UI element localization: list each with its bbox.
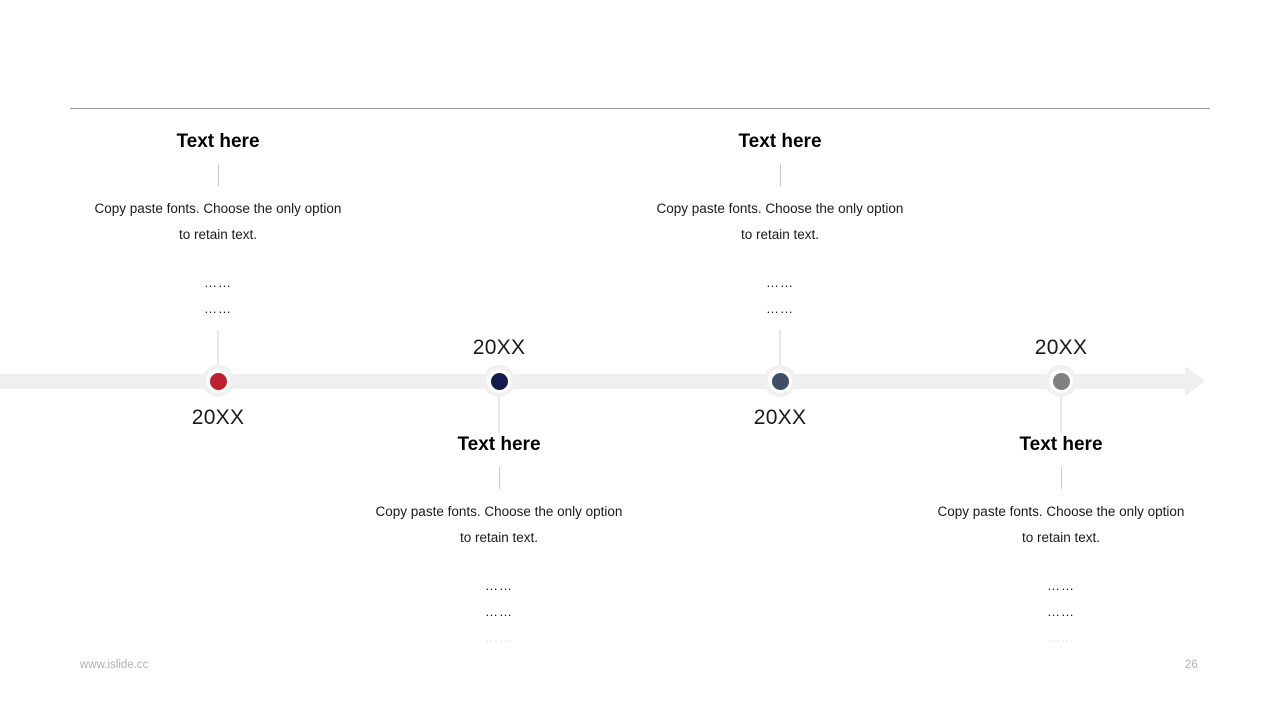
milestone-1-body-line-2: to retain text. (53, 222, 383, 248)
milestone-4-marker-ring (1049, 369, 1073, 393)
milestone-2-ellipsis-line-1: …… (485, 573, 513, 599)
milestone-2-marker[interactable] (483, 365, 515, 397)
milestone-4-ellipsis-line-2: …… (1047, 599, 1075, 625)
milestone-4-title: Text here (896, 434, 1226, 457)
milestone-4-ellipsis-line-1: …… (1047, 573, 1075, 599)
milestone-2-ellipsis-line-2: …… (485, 599, 513, 625)
milestone-3-marker-ring (768, 369, 792, 393)
milestone-4-marker-dot (1053, 373, 1070, 390)
milestone-1-marker-ring (206, 369, 230, 393)
milestone-3-year: 20XX (754, 407, 807, 428)
footer-page-number: 26 (1185, 659, 1198, 671)
milestone-2-text-block: Text here Copy paste fonts. Choose the o… (334, 434, 664, 551)
timeline-arrow-icon (1185, 366, 1205, 396)
milestone-1-ellipsis-group: …… …… (204, 270, 232, 322)
milestone-2-title-separator (499, 467, 500, 489)
milestone-3-ellipsis-group: …… …… (766, 270, 794, 322)
milestone-1-marker-dot (210, 373, 227, 390)
milestone-3-ellipsis-line-2: …… (766, 296, 794, 322)
milestone-2-title: Text here (334, 434, 664, 457)
milestone-1-body-line-1: Copy paste fonts. Choose the only option (53, 196, 383, 222)
milestone-2-body-line-1: Copy paste fonts. Choose the only option (334, 499, 664, 525)
milestone-2-year: 20XX (473, 337, 526, 358)
milestone-2-marker-dot (491, 373, 508, 390)
milestone-4-year: 20XX (1035, 337, 1088, 358)
milestone-3-marker[interactable] (764, 365, 796, 397)
milestone-4-stem (1061, 397, 1062, 433)
milestone-1-text-block: Text here Copy paste fonts. Choose the o… (53, 131, 383, 248)
milestone-2-ellipsis-group: …… …… …… (485, 573, 513, 651)
milestone-3-body-line-1: Copy paste fonts. Choose the only option (615, 196, 945, 222)
milestone-1-year: 20XX (192, 407, 245, 428)
milestone-1-title: Text here (53, 131, 383, 154)
milestone-1-ellipsis-line-1: …… (204, 270, 232, 296)
milestone-4-title-separator (1061, 467, 1062, 489)
milestone-3-text-block: Text here Copy paste fonts. Choose the o… (615, 131, 945, 248)
milestone-4-text-block: Text here Copy paste fonts. Choose the o… (896, 434, 1226, 551)
milestone-2-marker-ring (487, 369, 511, 393)
slide-canvas: Text here Copy paste fonts. Choose the o… (0, 0, 1280, 720)
milestone-1-marker[interactable] (202, 365, 234, 397)
timeline-axis-bar (0, 374, 1185, 389)
milestone-2-stem (499, 397, 500, 433)
milestone-3-body-line-2: to retain text. (615, 222, 945, 248)
milestone-1-title-separator (218, 164, 219, 186)
milestone-4-body-line-1: Copy paste fonts. Choose the only option (896, 499, 1226, 525)
milestone-1-ellipsis-line-2: …… (204, 296, 232, 322)
milestone-4-body-line-2: to retain text. (896, 525, 1226, 551)
milestone-3-title: Text here (615, 131, 945, 154)
footer-url[interactable]: www.islide.cc (80, 659, 148, 671)
header-divider (70, 108, 1210, 109)
milestone-4-ellipsis-group: …… …… …… (1047, 573, 1075, 651)
milestone-3-marker-dot (772, 373, 789, 390)
milestone-3-title-separator (780, 164, 781, 186)
milestone-4-ellipsis-line-3: …… (1047, 625, 1075, 651)
milestone-3-ellipsis-line-1: …… (766, 270, 794, 296)
milestone-4-marker[interactable] (1045, 365, 1077, 397)
milestone-2-body-line-2: to retain text. (334, 525, 664, 551)
milestone-2-ellipsis-line-3: …… (485, 625, 513, 651)
